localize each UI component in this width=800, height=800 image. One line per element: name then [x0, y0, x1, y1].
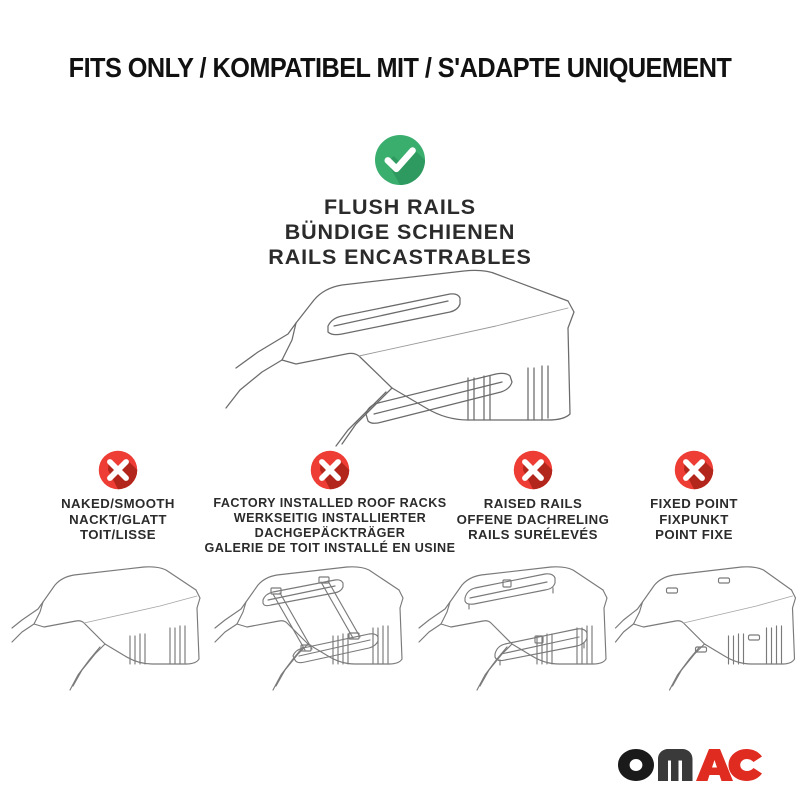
car-roof-naked-smooth-diagram	[10, 552, 215, 697]
incompatible-label-de: OFFENE DACHRELING	[438, 512, 628, 528]
car-roof-raised-rails-diagram	[417, 552, 622, 697]
incompatible-item-factory-roof-racks: FACTORY INSTALLED ROOF RACKS WERKSEITIG …	[204, 450, 456, 556]
incompatible-label-en: FIXED POINT	[608, 496, 780, 512]
green-check-circle-icon	[374, 134, 426, 186]
compatible-label-en: FLUSH RAILS	[0, 195, 800, 220]
incompatible-label-de-1: WERKSEITIG INSTALLIERTER	[204, 511, 456, 526]
incompatible-item-fixed-point: FIXED POINT FIXPUNKT POINT FIXE	[608, 450, 780, 543]
omac-letter-m	[658, 749, 693, 781]
car-roof-factory-racks-diagram	[213, 552, 418, 697]
incompatible-label-fr: POINT FIXE	[608, 527, 780, 543]
omac-letter-c	[729, 749, 763, 781]
incompatible-label-en: RAISED RAILS	[438, 496, 628, 512]
omac-letter-a	[696, 749, 733, 781]
compatible-section: FLUSH RAILS BÜNDIGE SCHIENEN RAILS ENCAS…	[0, 134, 800, 270]
incompatible-labels: NAKED/SMOOTH NACKT/GLATT TOIT/LISSE	[18, 496, 218, 543]
omac-letter-o	[618, 749, 654, 781]
red-x-circle-icon	[98, 450, 138, 490]
car-roof-fixed-point-diagram	[608, 552, 800, 697]
incompatible-item-raised-rails: RAISED RAILS OFFENE DACHRELING RAILS SUR…	[438, 450, 628, 543]
incompatible-label-en: NAKED/SMOOTH	[18, 496, 218, 512]
page-title: FITS ONLY / KOMPATIBEL MIT / S'ADAPTE UN…	[32, 52, 768, 84]
omac-brand-logo	[616, 748, 764, 782]
incompatible-label-de-2: DACHGEPÄCKTRÄGER	[204, 526, 456, 541]
incompatible-label-fr: TOIT/LISSE	[18, 527, 218, 543]
incompatible-labels: RAISED RAILS OFFENE DACHRELING RAILS SUR…	[438, 496, 628, 543]
compatible-label-de: BÜNDIGE SCHIENEN	[0, 220, 800, 245]
compatible-labels: FLUSH RAILS BÜNDIGE SCHIENEN RAILS ENCAS…	[0, 195, 800, 270]
incompatible-label-de: FIXPUNKT	[608, 512, 780, 528]
incompatible-labels: FACTORY INSTALLED ROOF RACKS WERKSEITIG …	[204, 496, 456, 556]
incompatible-label-fr: RAILS SURÉLEVÉS	[438, 527, 628, 543]
red-x-circle-icon	[513, 450, 553, 490]
roof-type-illustrations	[0, 552, 800, 702]
incompatible-label-en: FACTORY INSTALLED ROOF RACKS	[204, 496, 456, 511]
incompatible-item-naked-smooth: NAKED/SMOOTH NACKT/GLATT TOIT/LISSE	[18, 450, 218, 543]
incompatible-labels: FIXED POINT FIXPUNKT POINT FIXE	[608, 496, 780, 543]
car-roof-flush-rails-diagram	[196, 268, 626, 448]
red-x-circle-icon	[674, 450, 714, 490]
incompatible-label-de: NACKT/GLATT	[18, 512, 218, 528]
omac-logo-mark	[616, 748, 764, 782]
compatible-label-fr: RAILS ENCASTRABLES	[0, 245, 800, 270]
red-x-circle-icon	[310, 450, 350, 490]
